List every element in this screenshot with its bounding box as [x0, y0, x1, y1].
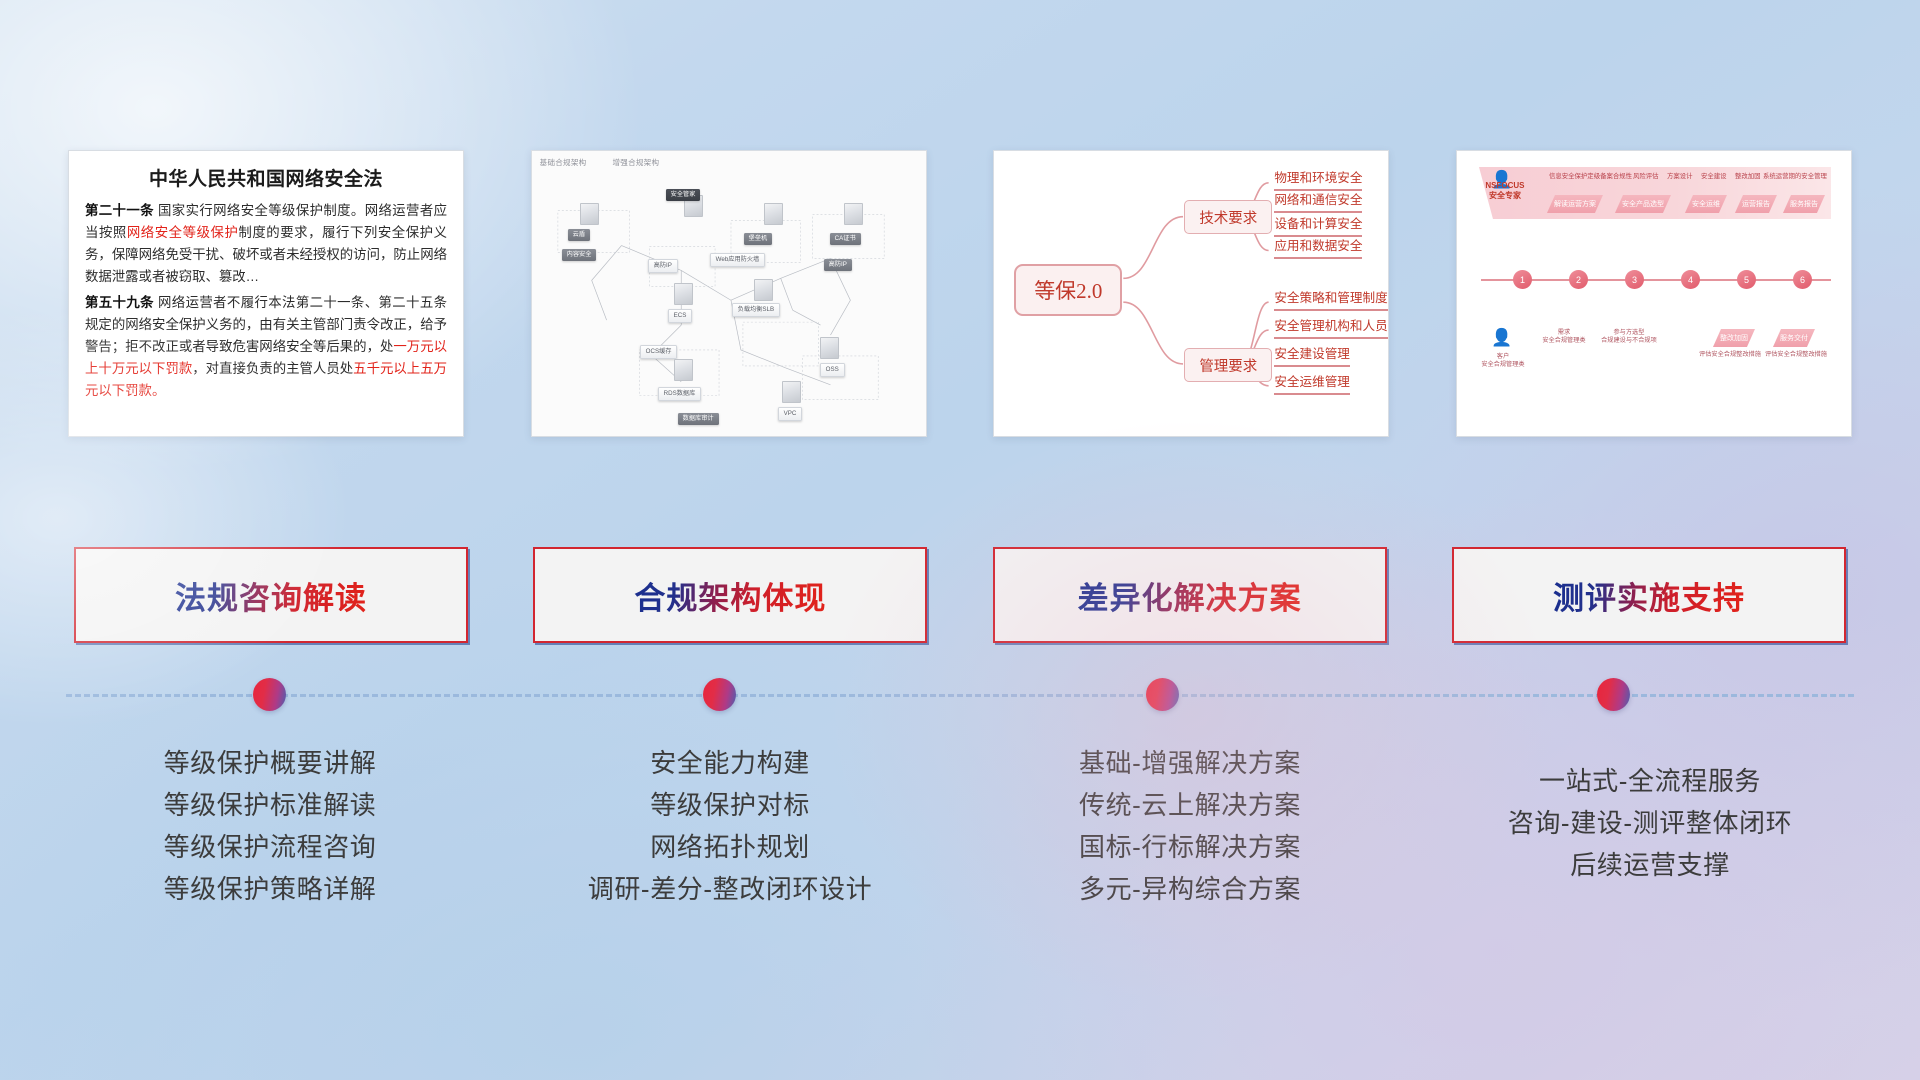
roadmap-chip-0: 解读运营方案 — [1547, 195, 1603, 213]
card-service-roadmap[interactable]: 👤 NSFOCUS 安全专家 信息安全保护定级备案合规性 风险评估 方案设计 安… — [1456, 150, 1852, 437]
list-item: 等级保护对标 — [520, 784, 940, 826]
arch-node-ca-cert: CA证书 — [830, 233, 861, 245]
roadmap-node-4[interactable]: 4 — [1681, 270, 1700, 289]
pillar-title-box-3[interactable]: 测评实施支持 — [1452, 547, 1846, 643]
roadmap-footer-4-chip: 服务交付 — [1773, 329, 1815, 347]
roadmap-footer-1: 需求 安全合规管理类 — [1541, 329, 1587, 346]
pillar-items-col-1: 安全能力构建 等级保护对标 网络拓扑规划 调研-差分-整改闭环设计 — [520, 742, 940, 910]
law-card-title: 中华人民共和国网络安全法 — [85, 164, 447, 191]
arch-node-vpc: VPC — [778, 407, 803, 421]
iso-cube-icon — [580, 203, 599, 225]
iso-cube-icon — [782, 381, 801, 403]
roadmap-footer-3-sub: 评估安全合规整改措施 — [1695, 351, 1765, 359]
roadmap-tag-0: 信息安全保护定级备案合规性 — [1549, 173, 1632, 181]
pillar-title-3: 测评实施支持 — [1553, 573, 1745, 618]
roadmap-timeline-line — [1481, 279, 1831, 281]
roadmap-node-5[interactable]: 5 — [1737, 270, 1756, 289]
pillar-title-0: 法规咨询解读 — [175, 573, 367, 618]
list-item: 多元-异构综合方案 — [980, 868, 1400, 910]
list-item: 一站式-全流程服务 — [1440, 760, 1860, 802]
roadmap-footer-2: 参与方选型 合规建设与不合规项 — [1599, 329, 1659, 346]
arch-node-db-audit: 数据库审计 — [678, 413, 719, 425]
reference-cards-row: 中华人民共和国网络安全法 第二十一条 国家实行网络安全等级保护制度。网络运营者应… — [0, 150, 1920, 440]
iso-cube-icon — [844, 203, 863, 225]
roadmap-brand-name: NSFOCUS — [1483, 181, 1527, 191]
arch-node-rds: RDS数据库 — [658, 387, 702, 401]
arch-node-waf-left: 高防IP — [648, 259, 678, 273]
roadmap-chip-1: 安全产品选型 — [1615, 195, 1671, 213]
list-item: 传统-云上解决方案 — [980, 784, 1400, 826]
card-cybersecurity-law[interactable]: 中华人民共和国网络安全法 第二十一条 国家实行网络安全等级保护制度。网络运营者应… — [68, 150, 464, 437]
roadmap-tag-3: 安全建设 — [1701, 173, 1727, 181]
arch-node-oss: OSS — [820, 363, 845, 377]
arch-node-yundun: 云盾 — [568, 229, 590, 241]
roadmap-tag-2: 方案设计 — [1667, 173, 1693, 181]
pillar-items-col-2: 基础-增强解决方案 传统-云上解决方案 国标-行标解决方案 多元-异构综合方案 — [980, 742, 1400, 910]
law-article-21-label: 第二十一条 — [85, 203, 154, 218]
list-item: 调研-差分-整改闭环设计 — [520, 868, 940, 910]
arch-node-ocs: OCS缓存 — [640, 345, 678, 359]
list-item: 基础-增强解决方案 — [980, 742, 1400, 784]
roadmap-node-3[interactable]: 3 — [1625, 270, 1644, 289]
roadmap-footer-4-sub: 评估安全合规整改措施 — [1761, 351, 1831, 359]
arch-node-security-butler: 安全管家 — [666, 189, 701, 201]
pillar-title-box-2[interactable]: 差异化解决方案 — [993, 547, 1387, 643]
list-item: 咨询-建设-测评整体闭环 — [1440, 802, 1860, 844]
timeline-dot-2[interactable] — [1146, 678, 1179, 711]
roadmap-footer-0: 客户 安全合规管理类 — [1481, 353, 1525, 370]
roadmap-footer-0-sub: 安全合规管理类 — [1481, 361, 1525, 369]
list-item: 等级保护策略详解 — [60, 868, 480, 910]
customer-avatar-icon: 👤 — [1491, 329, 1512, 346]
roadmap-footer-1-sub: 安全合规管理类 — [1541, 337, 1587, 345]
roadmap-footer-2-sub: 合规建设与不合规项 — [1599, 337, 1659, 345]
pillar-items-row: 等级保护概要讲解 等级保护标准解读 等级保护流程咨询 等级保护策略详解 安全能力… — [0, 742, 1920, 910]
list-item: 等级保护概要讲解 — [60, 742, 480, 784]
timeline-dot-1[interactable] — [703, 678, 736, 711]
card-mindmap-dengbao[interactable]: 等保2.0 技术要求 物理和环境安全 网络和通信安全 设备和计算安全 应用和数据… — [993, 150, 1389, 437]
list-item: 等级保护流程咨询 — [60, 826, 480, 868]
card-compliance-architecture[interactable]: 基础合规架构增强合规架构 — [531, 150, 927, 437]
pillar-title-1: 合规架构体现 — [634, 573, 826, 618]
architecture-nodes: 云盾 内容安全 安全管家 堡垒机 CA证书 高防IP Web应用防火墙 高防IP… — [532, 151, 926, 436]
iso-cube-icon — [674, 359, 693, 381]
roadmap-tag-4: 整改加固 — [1735, 173, 1761, 181]
roadmap-tag-1: 风险评估 — [1633, 173, 1659, 181]
mindmap-branch-technical[interactable]: 技术要求 — [1184, 200, 1272, 234]
mindmap-leaf-policy-system: 安全策略和管理制度 — [1274, 291, 1387, 311]
arch-node-bastion: 堡垒机 — [744, 233, 773, 245]
law-article-21-highlight: 网络安全等级保护 — [127, 225, 239, 240]
timeline-dot-3[interactable] — [1597, 678, 1630, 711]
roadmap-tag-5: 系统运营期的安全管理 — [1763, 173, 1827, 181]
list-item: 网络拓扑规划 — [520, 826, 940, 868]
list-item: 等级保护标准解读 — [60, 784, 480, 826]
law-article-59: 第五十九条 网络运营者不履行本法第二十一条、第二十五条规定的网络安全保护义务的，… — [85, 292, 447, 401]
roadmap-node-6[interactable]: 6 — [1793, 270, 1812, 289]
mindmap-leaf-ops-mgmt: 安全运维管理 — [1274, 375, 1350, 395]
law-article-59-text-b: ，对直接负责的主管人员处 — [192, 361, 353, 376]
list-item: 安全能力构建 — [520, 742, 940, 784]
arch-node-ecs: ECS — [668, 309, 693, 323]
arch-node-slb: 负载均衡SLB — [732, 303, 780, 317]
arch-node-content-security: 内容安全 — [562, 249, 597, 261]
mindmap-leaf-device-compute: 设备和计算安全 — [1274, 217, 1362, 237]
list-item: 后续运营支撑 — [1440, 844, 1860, 886]
slide-root: 中华人民共和国网络安全法 第二十一条 国家实行网络安全等级保护制度。网络运营者应… — [0, 0, 1920, 1080]
roadmap-node-1[interactable]: 1 — [1513, 270, 1532, 289]
pillar-titles-row: 法规咨询解读 合规架构体现 差异化解决方案 测评实施支持 — [0, 547, 1920, 643]
timeline-dot-0[interactable] — [253, 678, 286, 711]
iso-cube-icon — [820, 337, 839, 359]
roadmap-brand-sub: 安全专家 — [1483, 191, 1527, 201]
mindmap-root-node[interactable]: 等保2.0 — [1014, 264, 1122, 316]
arch-node-anti-ddos: 高防IP — [824, 259, 852, 271]
iso-cube-icon — [764, 203, 783, 225]
pillar-title-box-1[interactable]: 合规架构体现 — [533, 547, 927, 643]
mindmap-leaf-org-personnel: 安全管理机构和人员 — [1274, 319, 1387, 339]
pillar-title-2: 差异化解决方案 — [1078, 573, 1302, 618]
roadmap-brand: NSFOCUS 安全专家 — [1483, 181, 1527, 201]
list-item: 国标-行标解决方案 — [980, 826, 1400, 868]
law-article-59-label: 第五十九条 — [85, 295, 154, 310]
law-article-21: 第二十一条 国家实行网络安全等级保护制度。网络运营者应当按照网络安全等级保护制度… — [85, 200, 447, 287]
arch-node-waf: Web应用防火墙 — [710, 253, 766, 267]
mindmap-leaf-network-comm: 网络和通信安全 — [1274, 193, 1362, 213]
iso-cube-icon — [674, 283, 693, 305]
roadmap-footer-3-chip: 整改加固 — [1713, 329, 1755, 347]
roadmap-node-2[interactable]: 2 — [1569, 270, 1588, 289]
mindmap-leaf-construction-mgmt: 安全建设管理 — [1274, 347, 1350, 367]
pillar-title-box-0[interactable]: 法规咨询解读 — [74, 547, 468, 643]
pillar-items-col-0: 等级保护概要讲解 等级保护标准解读 等级保护流程咨询 等级保护策略详解 — [60, 742, 480, 910]
pillar-items-col-3: 一站式-全流程服务 咨询-建设-测评整体闭环 后续运营支撑 — [1440, 742, 1860, 910]
mindmap-branch-management[interactable]: 管理要求 — [1184, 348, 1272, 382]
timeline-dashed-line — [66, 694, 1854, 697]
mindmap-leaf-app-data: 应用和数据安全 — [1274, 239, 1362, 259]
iso-cube-icon — [754, 279, 773, 301]
mindmap-leaf-physical-env: 物理和环境安全 — [1274, 171, 1362, 191]
